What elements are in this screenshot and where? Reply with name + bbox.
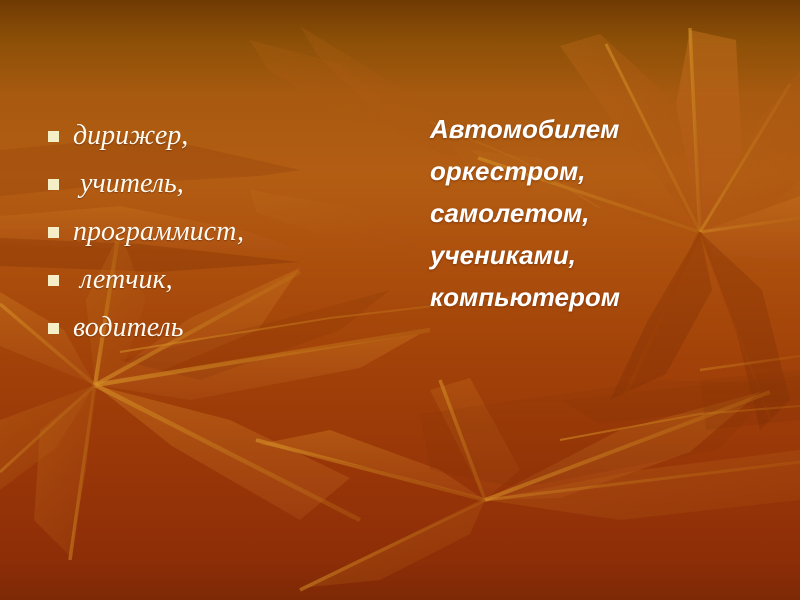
right-text-line: учениками, (430, 234, 770, 276)
list-item-label: водитель (73, 314, 183, 342)
list-item: учитель, (40, 160, 400, 208)
right-text-line: Автомобилем (430, 108, 770, 150)
right-text-line: оркестром, (430, 150, 770, 192)
list-item: дирижер, (40, 112, 400, 160)
square-bullet-icon (48, 323, 59, 334)
right-text-line: компьютером (430, 276, 770, 318)
list-item-label: программист, (73, 218, 244, 246)
square-bullet-icon (48, 275, 59, 286)
left-bullet-list: дирижер, учитель, программист, летчик, в… (40, 112, 400, 352)
list-item-label: учитель, (73, 170, 184, 198)
right-text-line: самолетом, (430, 192, 770, 234)
list-item: водитель (40, 304, 400, 352)
list-item: программист, (40, 208, 400, 256)
leaf-lower-right (256, 356, 800, 590)
square-bullet-icon (48, 131, 59, 142)
slide-canvas: дирижер, учитель, программист, летчик, в… (0, 0, 800, 600)
right-text-block: Автомобилем оркестром, самолетом, ученик… (430, 108, 770, 318)
list-item-label: дирижер, (73, 122, 188, 150)
list-item-label: летчик, (73, 266, 173, 294)
square-bullet-icon (48, 227, 59, 238)
list-item: летчик, (40, 256, 400, 304)
square-bullet-icon (48, 179, 59, 190)
